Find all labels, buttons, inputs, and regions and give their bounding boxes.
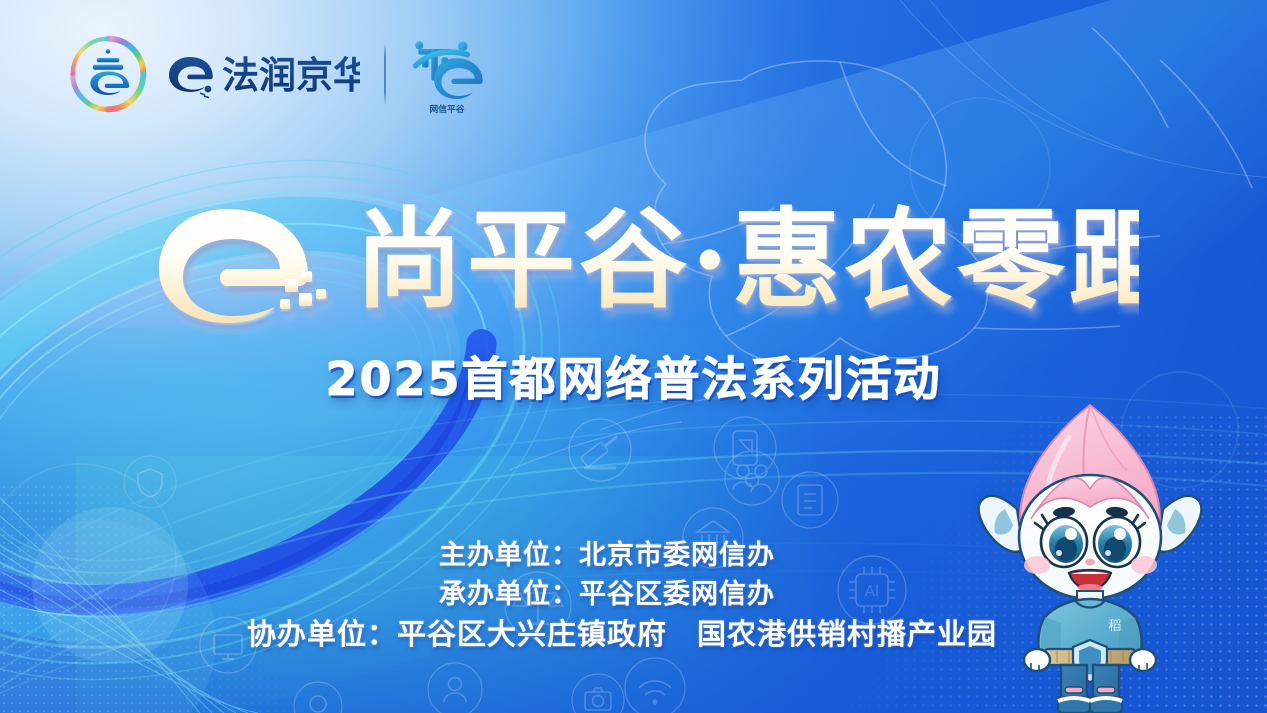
organizer-line-copartner: 协办单位：平谷区大兴庄镇政府 国农港供销村播产业园 (247, 614, 967, 655)
mobile-phone-icon (714, 417, 776, 479)
main-title-text: 尚平谷·惠农零距离 (355, 197, 1139, 323)
header-logo-bar: 法润京华 (66, 32, 484, 116)
mascot-shoes (1058, 697, 1122, 713)
organizer-line-operator: 承办单位：平谷区委网信办 (247, 576, 967, 614)
title-prefix-e (159, 209, 326, 323)
poster-stage: AI (0, 0, 1267, 713)
pinggu-peach-mascot: 稻 (965, 397, 1215, 713)
mascot-cheek-left (1024, 556, 1050, 574)
main-title: 尚平谷·惠农零距离 (129, 185, 1139, 335)
wangxin-pinggu-logo-icon: 网信平谷 (410, 34, 484, 114)
wifi-icon (625, 658, 685, 713)
brand-text: 法润京华 (222, 54, 360, 97)
mascot-nose (1085, 559, 1095, 566)
mascot-cheek-right (1131, 556, 1157, 574)
people-group-icon (725, 451, 779, 505)
subtitle: 2025首都网络普法系列活动 (325, 343, 941, 409)
partner-logo-caption: 网信平谷 (429, 103, 464, 114)
camera-icon (572, 674, 624, 713)
shield-icon (124, 456, 176, 508)
title-block: 尚平谷·惠农零距离 2025首都网络普法系列活动 (0, 185, 1267, 409)
user-badge-icon (428, 663, 482, 713)
efa-run-jinghua-emblem-icon (66, 32, 150, 116)
mascot-body: 稻 (1024, 591, 1156, 713)
document-icon (782, 472, 838, 528)
location-pin-icon (294, 682, 342, 713)
mascot-head (1019, 475, 1161, 599)
logo-divider (384, 43, 386, 105)
brand-wordmark: 法润京华 (164, 43, 360, 105)
organizer-line-host: 主办单位：北京市委网信办 (247, 537, 967, 575)
organizers-block: 主办单位：北京市委网信办 承办单位：平谷区委网信办 协办单位：平谷区大兴庄镇政府… (247, 537, 967, 655)
gavel-icon (569, 419, 631, 481)
mascot-shirt-character: 稻 (1108, 619, 1121, 634)
